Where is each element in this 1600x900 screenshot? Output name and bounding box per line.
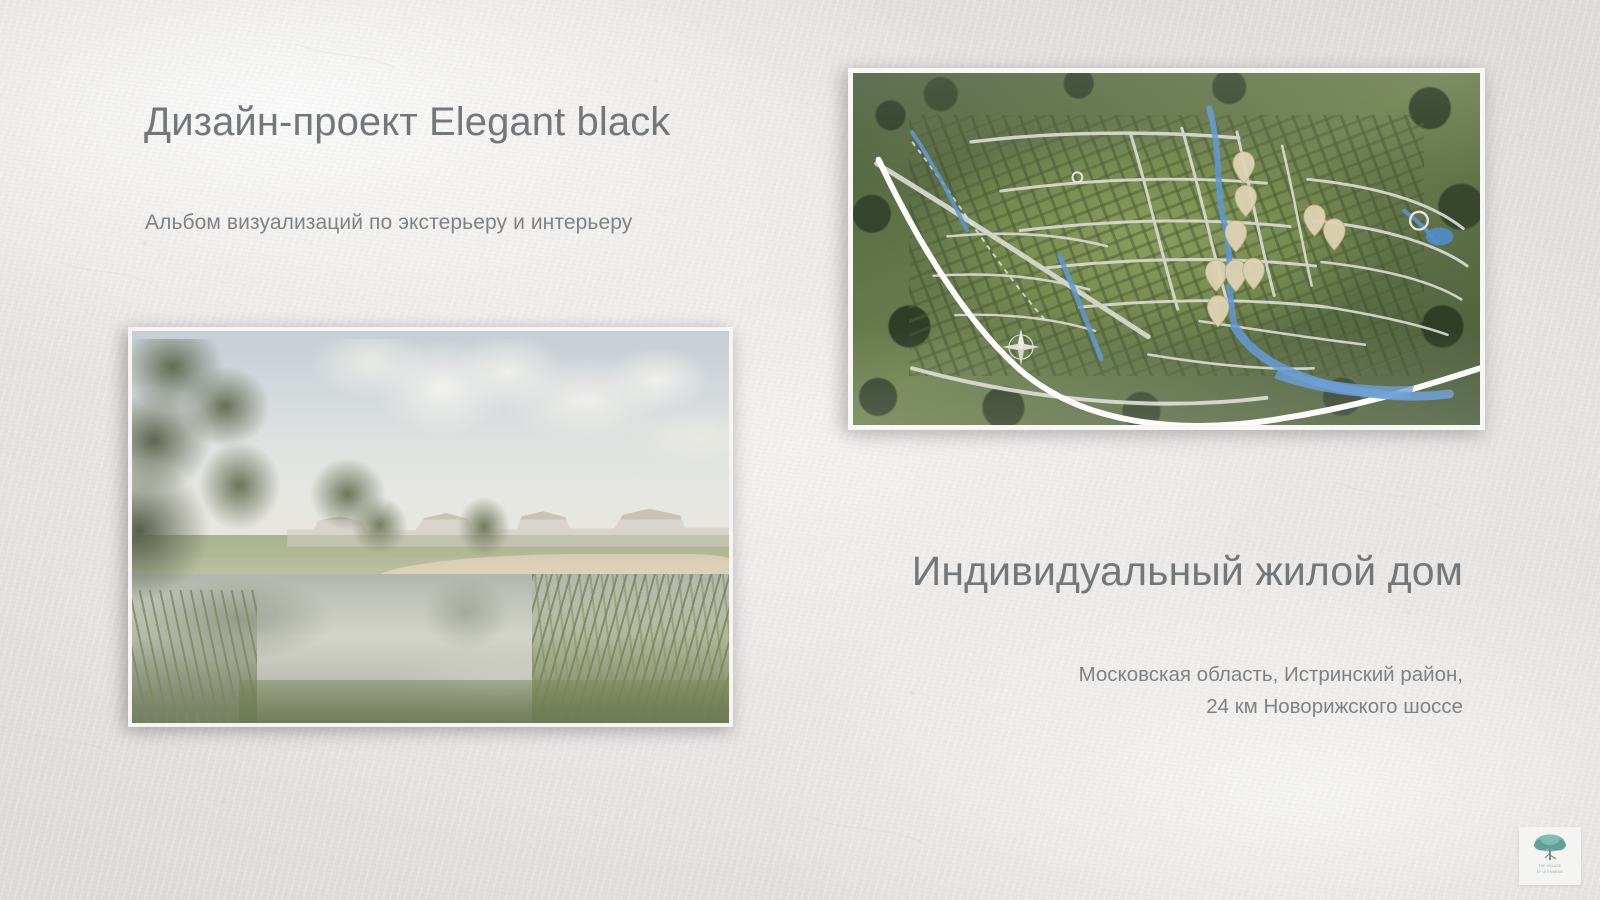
logo-line-2: BY LES MARAIS: [1537, 870, 1564, 875]
tree-icon: [1530, 831, 1570, 863]
page-title: Дизайн-проект Elegant black: [144, 100, 670, 145]
presentation-slide: Дизайн-проект Elegant black Альбом визуа…: [0, 0, 1600, 900]
logo-line-1: THE VILLAGE: [1539, 864, 1562, 869]
plan-haze-overlay: [853, 73, 1480, 425]
location-line-2: 24 км Новорижского шоссе: [1079, 691, 1463, 723]
lake-photo-frame: [128, 327, 733, 727]
location-line-1: Московская область, Истринский район,: [1079, 659, 1463, 691]
location-block: Московская область, Истринский район, 24…: [1079, 659, 1463, 723]
project-title: Индивидуальный жилой дом: [912, 548, 1463, 595]
lake-landscape-photo: [132, 331, 729, 723]
photo-foreground-grass: [239, 680, 729, 723]
tree-emblem-logo: THE VILLAGE BY LES MARAIS: [1519, 827, 1581, 885]
masterplan-frame: [848, 68, 1485, 430]
masterplan-reflection: [848, 432, 1485, 550]
lake-photo-reflection: [128, 729, 733, 815]
aerial-masterplan-render: [853, 73, 1480, 425]
photo-left-trees: [132, 339, 359, 621]
photo-far-tree: [442, 488, 526, 590]
page-subtitle: Альбом визуализаций по экстерьеру и инте…: [145, 211, 632, 235]
